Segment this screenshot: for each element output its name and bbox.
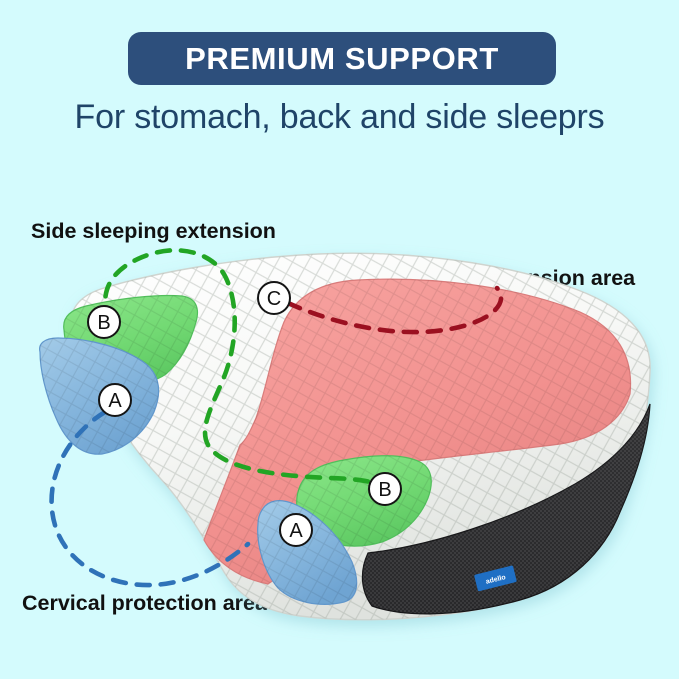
infographic-canvas: PREMIUM SUPPORT For stomach, back and si… (0, 0, 679, 679)
marker-b-lower-label: B (378, 479, 391, 501)
pillow-illustration: B A C B A adello (0, 0, 679, 679)
marker-a-upper[interactable]: A (99, 384, 131, 416)
marker-c-center[interactable]: C (258, 282, 290, 314)
marker-a-lower-label: A (289, 520, 303, 542)
marker-a-lower[interactable]: A (280, 514, 312, 546)
marker-a-upper-label: A (108, 390, 122, 412)
marker-b-upper-label: B (97, 312, 110, 334)
marker-c-label: C (267, 288, 281, 310)
marker-b-lower[interactable]: B (369, 473, 401, 505)
marker-b-upper[interactable]: B (88, 306, 120, 338)
